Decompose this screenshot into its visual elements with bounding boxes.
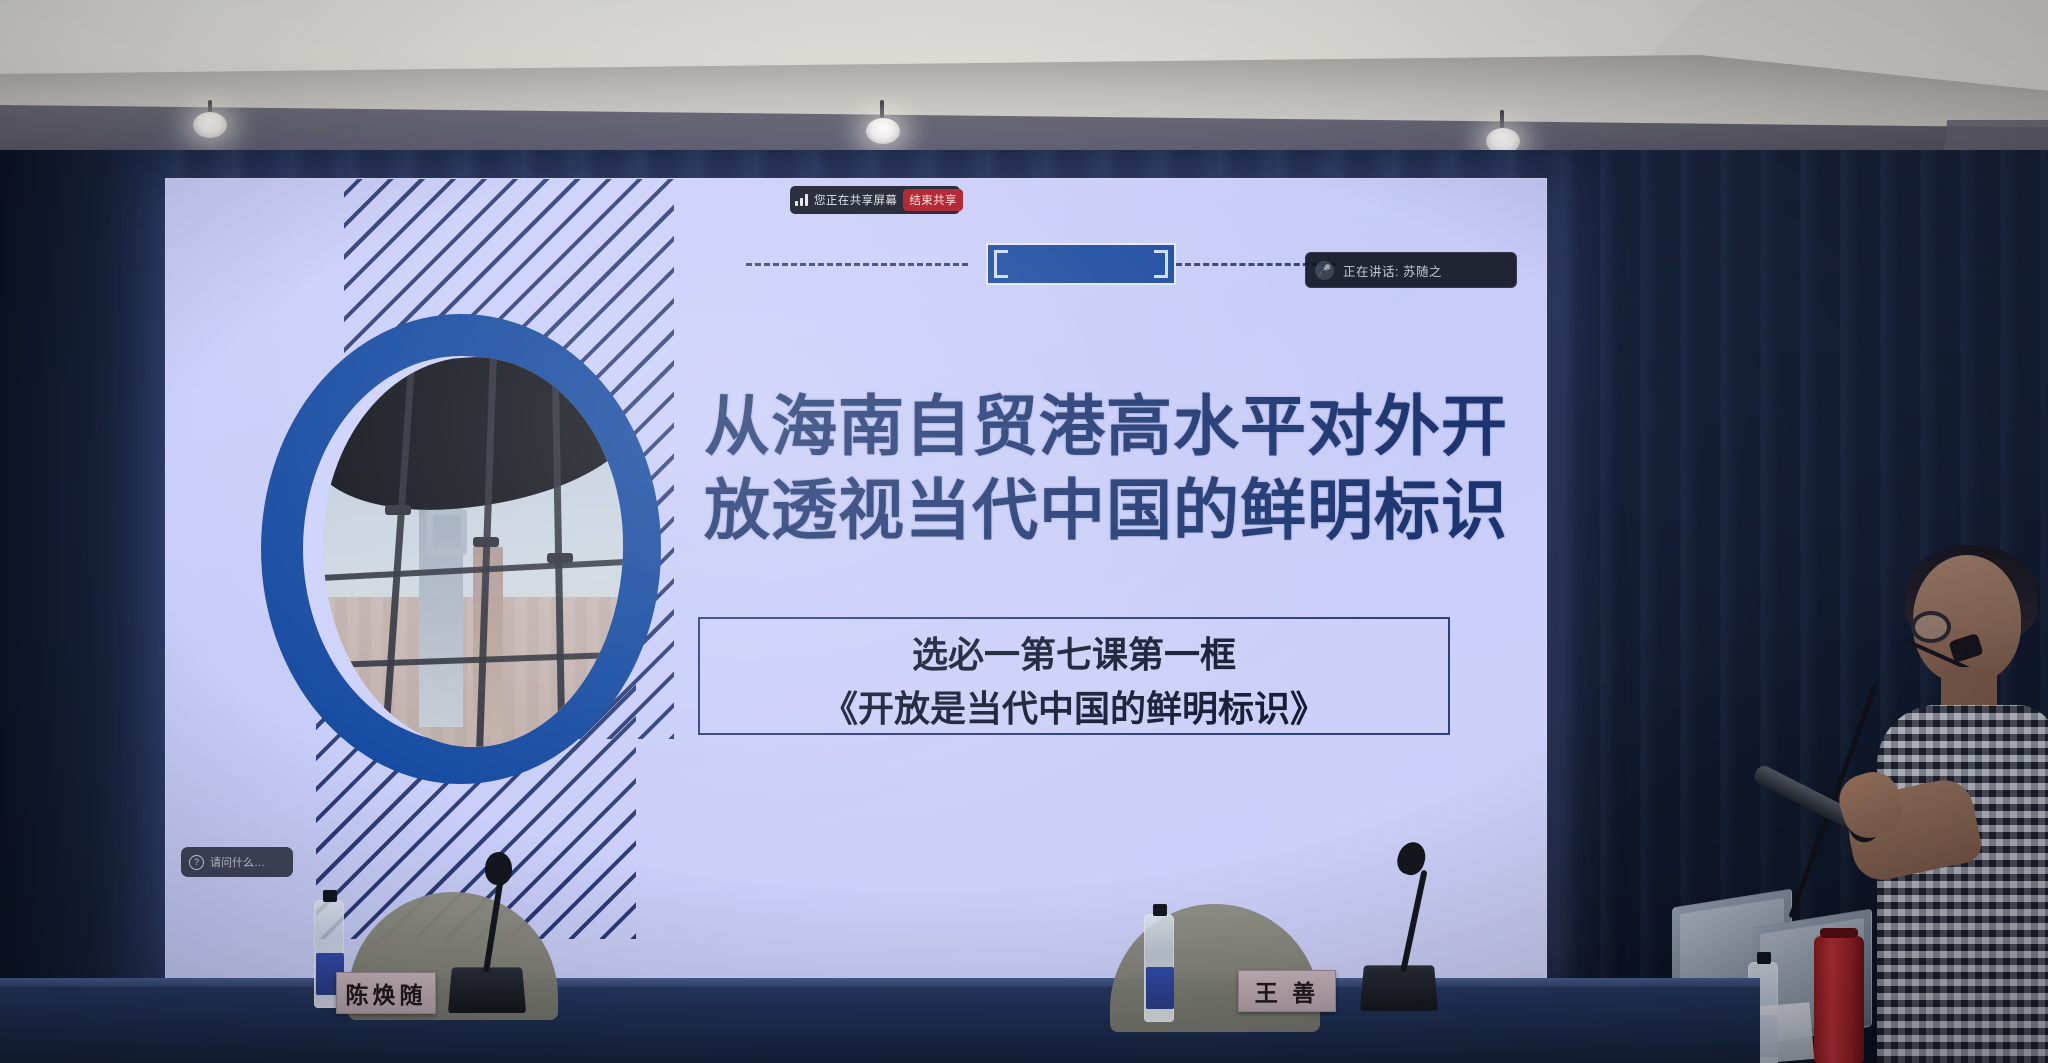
stage-curtain-left xyxy=(0,150,170,1063)
photo-tower-swfc xyxy=(419,497,463,727)
glasses-icon xyxy=(1911,611,1951,643)
nameplate: 陈焕随 xyxy=(336,972,436,1014)
screen-share-bar[interactable]: 您正在共享屏幕 结束共享 xyxy=(790,186,960,214)
slide-subtitle-box: 选必一第七课第一框 《开放是当代中国的鲜明标识》 xyxy=(698,617,1450,735)
gooseneck-mic-base xyxy=(1360,965,1438,1011)
panel-table-edge xyxy=(0,978,1760,987)
ceiling-light-2 xyxy=(866,118,900,144)
corner-bracket-icon xyxy=(994,264,1008,278)
speaking-indicator-label: 正在讲话: 苏随之 xyxy=(1343,261,1442,280)
nameplate: 王 善 xyxy=(1238,970,1336,1012)
slide-subtitle-line-2: 《开放是当代中国的鲜明标识》 xyxy=(700,682,1448,736)
water-bottle-icon xyxy=(1144,914,1174,1022)
photo-glass-bracket xyxy=(473,537,499,547)
screen-share-status: 您正在共享屏幕 xyxy=(814,192,897,208)
slide-subtitle-line-1: 选必一第七课第一框 xyxy=(700,628,1448,682)
photo-glass-bracket xyxy=(385,505,411,515)
ceiling-light-1 xyxy=(193,112,227,138)
gooseneck-mic-head xyxy=(485,852,512,885)
shanghai-skyline-photo xyxy=(323,357,623,747)
panel-table xyxy=(0,978,1760,1063)
speaking-indicator: 🎤 正在讲话: 苏随之 xyxy=(1305,252,1517,288)
photo-scene: 从海南自贸港高水平对外开 放透视当代中国的鲜明标识 选必一第七课第一框 《开放是… xyxy=(0,0,2048,1063)
projection-screen: 从海南自贸港高水平对外开 放透视当代中国的鲜明标识 选必一第七课第一框 《开放是… xyxy=(165,178,1547,983)
hint-pill-button[interactable]: ? 请问什么… xyxy=(181,847,293,877)
downlight-stem xyxy=(880,100,884,118)
corner-bracket-icon xyxy=(1154,264,1168,278)
corner-bracket-icon xyxy=(994,250,1008,264)
question-circle-icon: ? xyxy=(189,855,204,870)
circular-photo-decor xyxy=(261,239,681,859)
person-checkered-shirt xyxy=(1877,705,2048,1063)
gooseneck-mic-base xyxy=(448,967,526,1013)
slide-title-line-2: 放透视当代中国的鲜明标识 xyxy=(686,468,1526,552)
blue-accent-bar xyxy=(986,243,1176,285)
seated-speaker xyxy=(1855,555,2048,1063)
downlight-stem xyxy=(1500,110,1504,128)
microphone-icon: 🎤 xyxy=(1315,261,1334,280)
signal-bars-icon xyxy=(795,194,808,206)
corner-bracket-icon xyxy=(1154,250,1168,264)
photo-glass-bracket xyxy=(547,553,573,563)
slide-title: 从海南自贸港高水平对外开 放透视当代中国的鲜明标识 xyxy=(686,384,1526,553)
slide-title-line-1: 从海南自贸港高水平对外开 xyxy=(686,384,1526,468)
hint-pill-label: 请问什么… xyxy=(210,854,265,870)
stop-sharing-button[interactable]: 结束共享 xyxy=(903,189,963,211)
dashed-rule-left xyxy=(746,263,968,266)
